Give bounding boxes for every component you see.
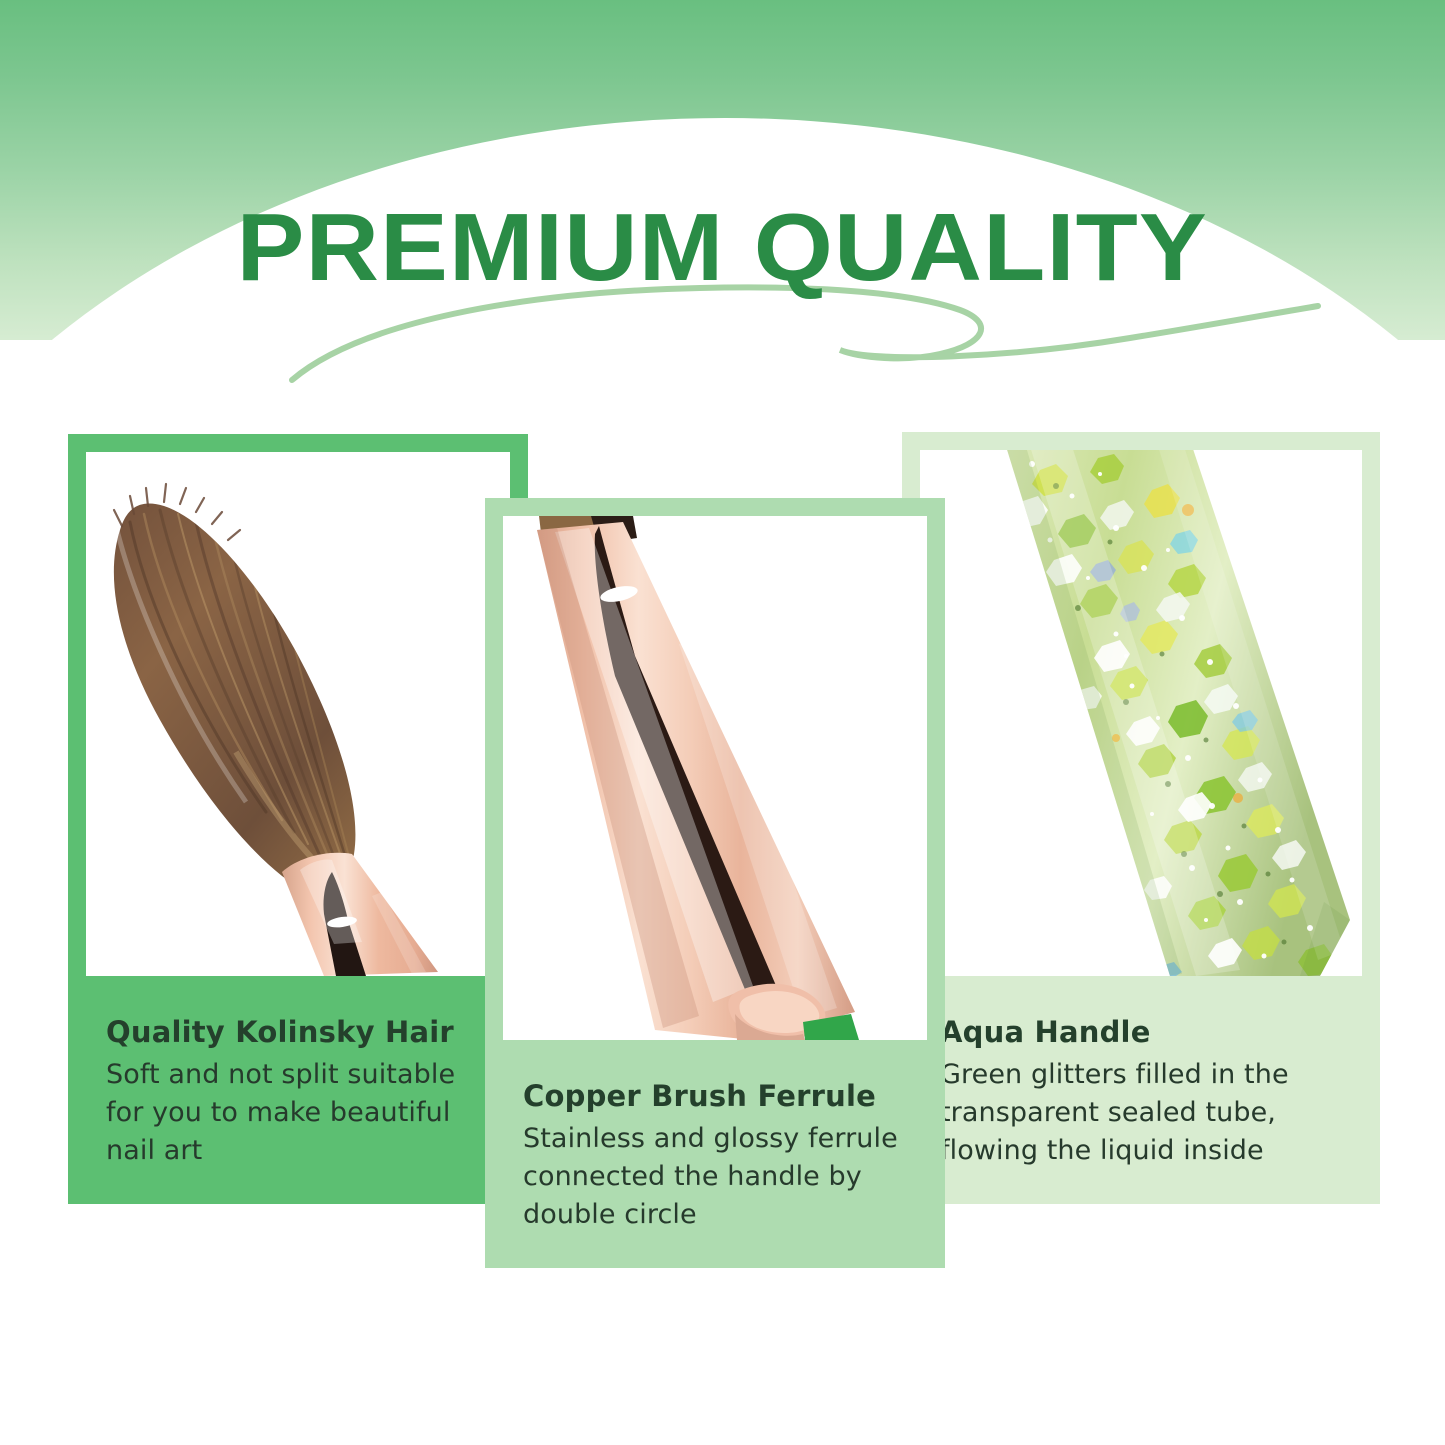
kolinsky-brush-head-photo bbox=[86, 452, 510, 976]
card-title: Aqua Handle bbox=[940, 1014, 1346, 1050]
card-body: Stainless and glossy ferrule connected t… bbox=[523, 1120, 911, 1234]
card-body: Soft and not split suitable for you to m… bbox=[106, 1056, 494, 1170]
card-caption: Copper Brush Ferrule Stainless and gloss… bbox=[485, 1056, 945, 1268]
card-title: Quality Kolinsky Hair bbox=[106, 1014, 494, 1050]
page-title-text: PREMIUM QUALITY bbox=[237, 196, 1208, 300]
card-caption: Quality Kolinsky Hair Soft and not split… bbox=[68, 992, 528, 1204]
card-image-frame bbox=[902, 432, 1380, 994]
card-image-frame bbox=[68, 434, 528, 994]
card-caption: Aqua Handle Green glitters filled in the… bbox=[902, 992, 1380, 1204]
aqua-glitter-handle-photo bbox=[920, 450, 1362, 976]
card-body: Green glitters filled in the transparent… bbox=[940, 1056, 1346, 1170]
copper-ferrule-photo bbox=[503, 516, 927, 1040]
card-image-frame bbox=[485, 498, 945, 1058]
page-title: PREMIUM QUALITY bbox=[0, 196, 1445, 316]
card-title: Copper Brush Ferrule bbox=[523, 1078, 911, 1114]
